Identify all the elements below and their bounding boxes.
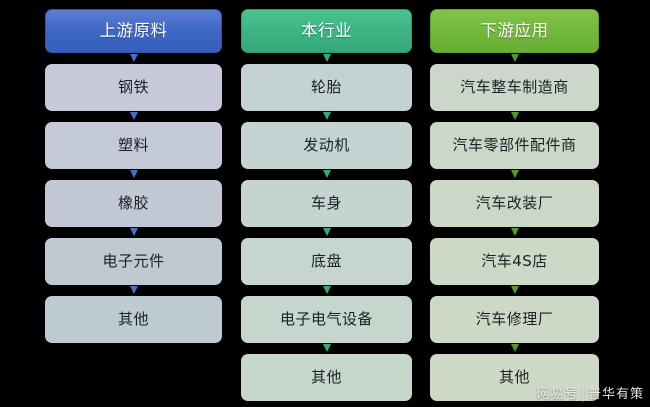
chain-arrow-down-icon [430, 285, 599, 296]
arrow-triangle [130, 112, 138, 120]
chain-node: 汽车零部件配件商 [430, 122, 599, 169]
chain-arrow-down-icon [241, 53, 412, 64]
chain-node: 其他 [45, 296, 222, 343]
chain-node: 汽车修理厂 [430, 296, 599, 343]
chain-arrow-down-icon [241, 169, 412, 180]
column-header-industry: 本行业 [241, 9, 412, 53]
watermark-author: 普华有策 [588, 387, 644, 402]
arrow-triangle [323, 344, 331, 352]
chain-arrow-down-icon [430, 343, 599, 354]
chain-column-upstream: 上游原料钢铁塑料橡胶电子元件其他 [45, 9, 222, 407]
arrow-triangle [323, 112, 331, 120]
chain-node: 汽车整车制造商 [430, 64, 599, 111]
chain-node: 车身 [241, 180, 412, 227]
arrow-triangle [130, 228, 138, 236]
arrow-triangle [323, 54, 331, 62]
chain-arrow-down-icon [430, 111, 599, 122]
chain-node: 底盘 [241, 238, 412, 285]
chain-node: 其他 [241, 354, 412, 401]
chain-node: 汽车改装厂 [430, 180, 599, 227]
chain-arrow-down-icon [430, 227, 599, 238]
chain-node: 电子元件 [45, 238, 222, 285]
watermark-separator: | [581, 387, 586, 402]
arrow-triangle [511, 344, 519, 352]
arrow-triangle [511, 54, 519, 62]
chain-column-industry: 本行业轮胎发动机车身底盘电子电气设备其他 [241, 9, 412, 407]
chain-node: 电子电气设备 [241, 296, 412, 343]
chain-node: 发动机 [241, 122, 412, 169]
chain-arrow-down-icon [45, 53, 222, 64]
chain-node: 轮胎 [241, 64, 412, 111]
chain-arrow-down-icon [430, 53, 599, 64]
arrow-triangle [323, 228, 331, 236]
chain-node: 橡胶 [45, 180, 222, 227]
chain-node: 钢铁 [45, 64, 222, 111]
watermark: 网易号|普华有策 [537, 383, 644, 402]
chain-arrow-down-icon [241, 285, 412, 296]
chain-arrow-down-icon [241, 227, 412, 238]
chain-column-downstream: 下游应用汽车整车制造商汽车零部件配件商汽车改装厂汽车4S店汽车修理厂其他 [430, 9, 599, 407]
chain-arrow-down-icon [45, 169, 222, 180]
arrow-triangle [511, 228, 519, 236]
arrow-triangle [511, 286, 519, 294]
arrow-triangle [511, 170, 519, 178]
chain-node: 塑料 [45, 122, 222, 169]
column-header-downstream: 下游应用 [430, 9, 599, 53]
chain-arrow-down-icon [241, 111, 412, 122]
chain-arrow-down-icon [45, 285, 222, 296]
arrow-triangle [323, 170, 331, 178]
arrow-triangle [130, 54, 138, 62]
column-header-upstream: 上游原料 [45, 9, 222, 53]
industry-chain-diagram: 上游原料钢铁塑料橡胶电子元件其他本行业轮胎发动机车身底盘电子电气设备其他下游应用… [0, 0, 650, 407]
watermark-source: 网易号 [537, 387, 579, 402]
arrow-triangle [511, 112, 519, 120]
chain-node: 汽车4S店 [430, 238, 599, 285]
arrow-triangle [323, 286, 331, 294]
chain-arrow-down-icon [430, 169, 599, 180]
arrow-triangle [130, 170, 138, 178]
chain-arrow-down-icon [241, 343, 412, 354]
chain-arrow-down-icon [45, 111, 222, 122]
arrow-triangle [130, 286, 138, 294]
chain-arrow-down-icon [45, 227, 222, 238]
